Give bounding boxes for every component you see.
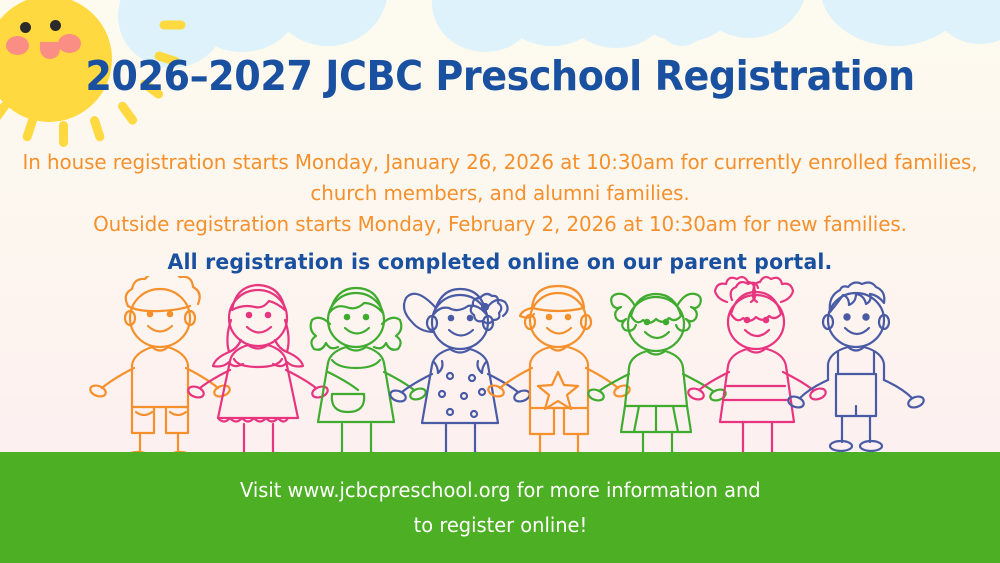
children-illustration [0,276,1000,456]
banner-line-1: Visit www.jcbcpreschool.org for more inf… [240,473,761,508]
footer-banner-text: Visit www.jcbcpreschool.org for more inf… [0,452,1000,563]
cloud-shape [432,0,538,52]
highlight-line: All registration is completed online on … [15,247,985,277]
cloud-shape [560,0,672,48]
kid-girl-buns [687,277,827,456]
kid-girl-braids [187,285,329,456]
cloud-shape [492,0,612,46]
body-text-block: In house registration starts Monday, Jan… [0,147,1000,277]
cloud-shape [604,6,644,42]
cloud-shape [660,6,704,46]
kid-boy-cap-star [487,286,631,456]
body-line-3: Outside registration starts Monday, Febr… [15,209,985,240]
kid-boy-curly-hair [89,276,231,456]
cloud-shape [690,0,808,38]
cloud-shape [880,0,940,34]
cloud-shape [624,0,744,42]
kid-girl-curly-pigtails [587,294,727,456]
kid-girl-apron [311,288,428,456]
cloud-shape [712,0,754,30]
cloud-shape [268,0,388,46]
body-line-2: church members, and alumni families. [15,178,985,209]
footer-banner: Visit www.jcbcpreschool.org for more inf… [0,452,1000,563]
cloud-shape [930,0,1000,44]
kid-boy-overalls [787,283,925,451]
sun-cheek-left [6,36,29,55]
sun-eye-right [50,20,61,31]
sun-eye-left [20,22,31,33]
cloud-shape [182,0,302,52]
page-title: 2026–2027 JCBC Preschool Registration [35,52,965,100]
body-line-1: In house registration starts Monday, Jan… [15,147,985,178]
kid-girl-ponytail [389,289,531,456]
poster-canvas: 2026–2027 JCBC Preschool Registration In… [0,0,1000,563]
cloud-shape [820,0,970,46]
sun-cheek-right [58,34,81,53]
banner-line-2: to register online! [413,508,587,543]
